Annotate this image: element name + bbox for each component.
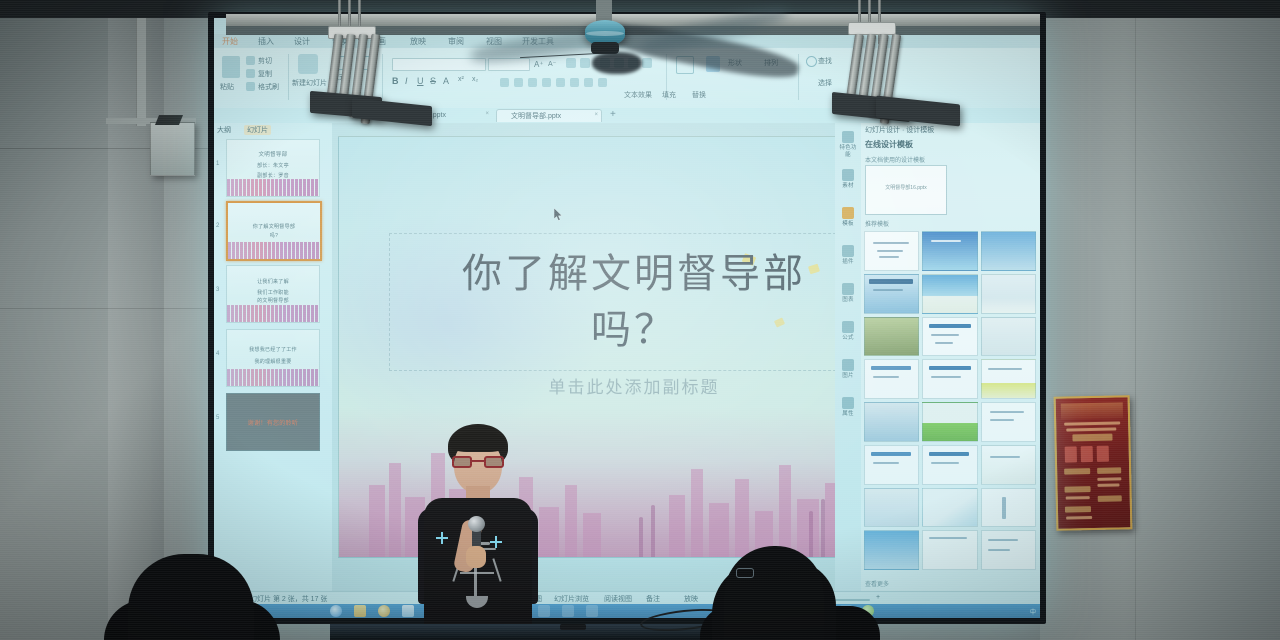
presenter-fringe: [450, 432, 506, 452]
presenter: [418, 424, 538, 640]
tshirt-sparkle: [490, 536, 502, 548]
poster-banner: [1072, 434, 1112, 442]
poster-line: [1097, 477, 1121, 481]
presenter-hand: [466, 546, 486, 568]
glasses-lens-right: [484, 456, 504, 468]
classroom-scene: 开始 插入 设计 切换 动画 放映 审阅 视图 开发工具 粘贴 剪切 复制 格式…: [0, 0, 1280, 640]
poster-tag: [1064, 486, 1090, 493]
microphone-head: [468, 516, 485, 532]
poster-line: [1066, 496, 1090, 500]
left-wall: [0, 0, 226, 640]
junction-box-lid: [155, 115, 183, 125]
right-wall-seam: [1135, 0, 1136, 640]
poster-block: [1097, 446, 1109, 462]
poster-line: [1066, 516, 1092, 520]
poster-block: [1065, 446, 1077, 462]
wall-seam-2: [0, 308, 226, 309]
glasses-lens-left: [452, 456, 472, 468]
remote-control: [560, 624, 586, 630]
audience-right-head: [724, 546, 824, 640]
poster-tag: [1064, 468, 1090, 475]
poster-tag: [1098, 495, 1122, 502]
fan-blade-shadow: [592, 52, 642, 74]
wall-conduit: [136, 0, 146, 126]
poster-block: [1081, 446, 1093, 462]
poster-line: [1064, 421, 1120, 425]
poster-line: [1097, 483, 1119, 486]
poster-tag: [1097, 467, 1121, 474]
right-wall: [1040, 0, 1280, 640]
poster-tag: [1065, 506, 1091, 513]
wall-junction-box: [150, 122, 195, 176]
glasses-bridge: [472, 460, 484, 462]
poster-header: [1061, 402, 1123, 419]
poster-line: [1066, 428, 1116, 432]
audience-right-glasses: [736, 568, 754, 578]
wall-poster: [1054, 395, 1133, 531]
tshirt-sparkle: [436, 532, 448, 544]
fan-hub-ring: [586, 31, 624, 36]
presenter-glasses: [452, 456, 504, 468]
